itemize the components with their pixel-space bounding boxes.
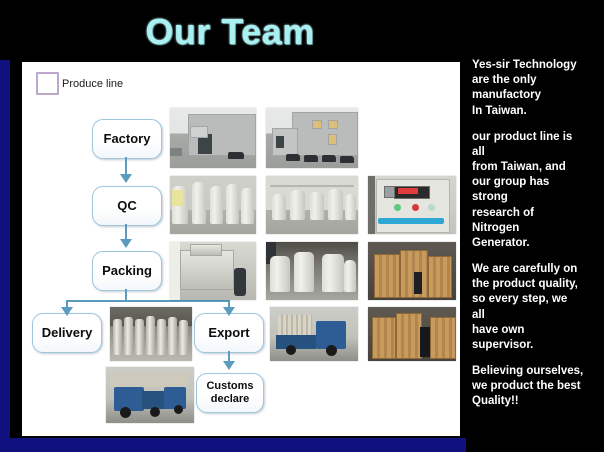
flow-node-customs-declare[interactable]: Customs declare: [196, 373, 264, 413]
page-title: Our Team: [0, 14, 460, 50]
photo-factory-exterior-1: [170, 108, 256, 168]
arrow-packing-split-bar: [66, 300, 229, 302]
arrow-export-customs-head: [223, 361, 235, 370]
photo-wrapped-tanks: [266, 242, 358, 300]
flow-node-qc[interactable]: QC: [92, 186, 162, 226]
arrow-qc-packing-head: [120, 239, 132, 248]
diagram-panel: Produce line Factory QC Packing Delivery…: [22, 62, 460, 436]
flow-node-export[interactable]: Export: [194, 313, 264, 353]
legend-label: Produce line: [62, 78, 123, 90]
photo-factory-exterior-2: [266, 108, 358, 168]
arrow-split-delivery-head: [61, 307, 73, 316]
frame-band-left: [0, 60, 10, 452]
photo-wooden-crates-2: [368, 307, 456, 361]
photo-export-truck: [270, 307, 358, 361]
photo-delivery-truck: [106, 367, 194, 423]
arrow-factory-qc-line: [125, 157, 127, 175]
produce-line-swatch-icon: [36, 72, 59, 95]
photo-nitrogen-tanks-2: [266, 176, 358, 234]
arrow-split-export-head: [223, 307, 235, 316]
customs-label-line1: Customs: [206, 380, 253, 393]
photo-gas-cylinders: [110, 307, 192, 361]
flow-node-packing[interactable]: Packing: [92, 251, 162, 291]
photo-control-panel: [368, 176, 456, 234]
photo-nitrogen-tanks-1: [170, 176, 256, 234]
flow-node-delivery[interactable]: Delivery: [32, 313, 102, 353]
flow-node-factory[interactable]: Factory: [92, 119, 162, 159]
frame-band-bottom: [0, 438, 466, 452]
description-paragraph-3: We are carefully on the product quality,…: [472, 262, 602, 353]
description-paragraph-4: Believing ourselves, we product the best…: [472, 364, 602, 410]
description-paragraph-2: our product line is all from Taiwan, and…: [472, 130, 602, 251]
arrow-qc-packing-line: [125, 224, 127, 240]
description-text: Yes-sir Technology are the only manufact…: [472, 58, 602, 421]
photo-machine-assembly: [170, 242, 256, 300]
description-paragraph-1: Yes-sir Technology are the only manufact…: [472, 58, 602, 119]
slide-canvas: Our Team Produce line Factory QC Packing…: [0, 0, 604, 452]
customs-label-line2: declare: [211, 393, 250, 406]
photo-wooden-crates-1: [368, 242, 456, 300]
arrow-factory-qc-head: [120, 174, 132, 183]
legend: Produce line: [36, 72, 123, 95]
